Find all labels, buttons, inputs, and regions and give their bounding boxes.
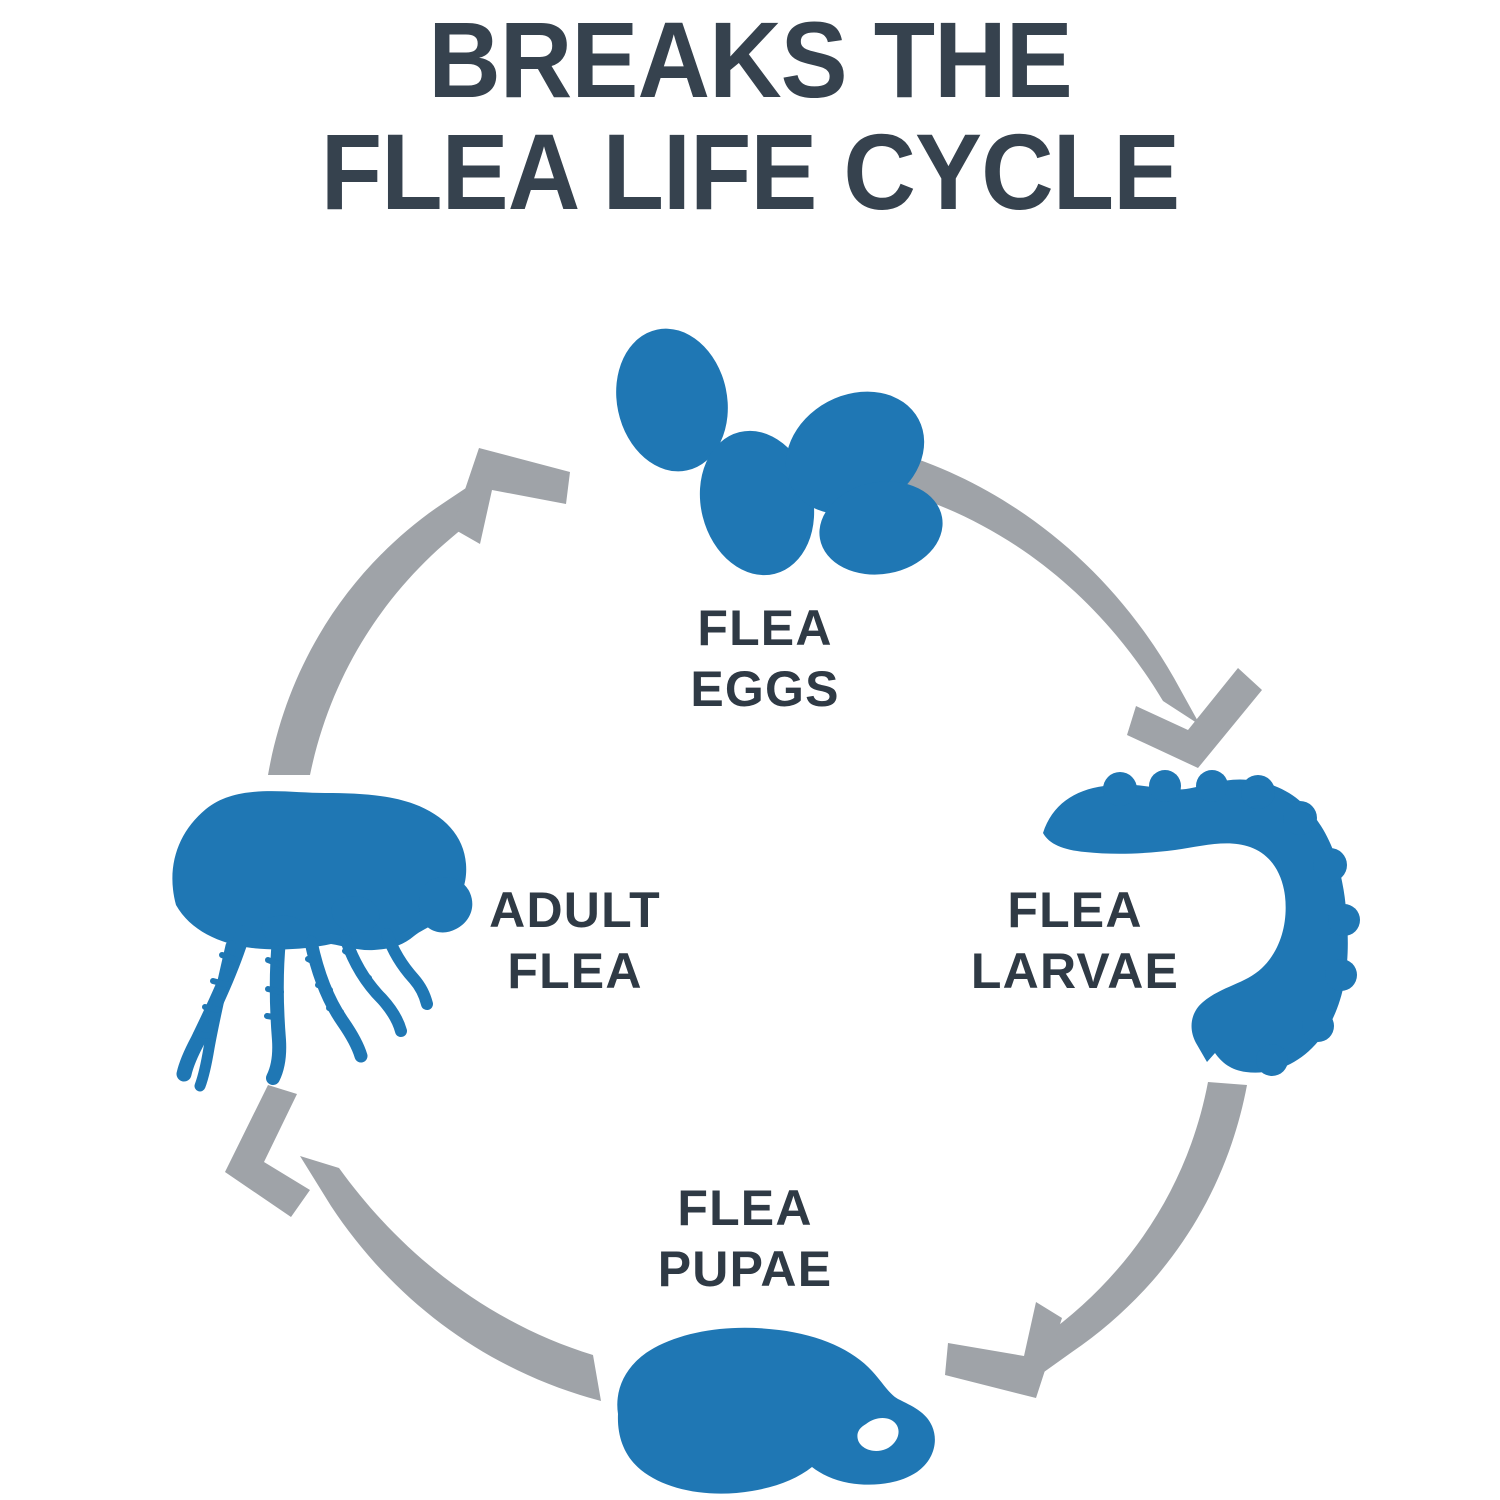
stage-label-eggs-line2: EGGS bbox=[600, 659, 930, 720]
flea-eggs-icon bbox=[603, 318, 950, 587]
arrowhead-chevron-icon bbox=[945, 1302, 1062, 1398]
flea-life-cycle-poster: BREAKS THE FLEA LIFE CYCLE bbox=[0, 0, 1500, 1500]
stage-label-pupae: FLEA PUPAE bbox=[580, 1178, 910, 1300]
stage-label-pupae-line2: PUPAE bbox=[580, 1239, 910, 1300]
arrow-pupae-to-adult bbox=[225, 1085, 601, 1401]
stage-label-larvae-line2: LARVAE bbox=[890, 941, 1260, 1002]
arrow-adult-to-eggs bbox=[268, 448, 570, 775]
stage-label-adult-line2: FLEA bbox=[410, 941, 740, 1002]
stage-label-eggs-line1: FLEA bbox=[600, 598, 930, 659]
stage-label-adult-line1: ADULT bbox=[410, 880, 740, 941]
stage-label-larvae-line1: FLEA bbox=[890, 880, 1260, 941]
stage-label-larvae: FLEA LARVAE bbox=[890, 880, 1260, 1002]
flea-pupa-icon bbox=[617, 1328, 935, 1494]
arrowhead-chevron-icon bbox=[225, 1085, 310, 1217]
stage-label-adult: ADULT FLEA bbox=[410, 880, 740, 1002]
stage-label-pupae-line1: FLEA bbox=[580, 1178, 910, 1239]
stage-label-eggs: FLEA EGGS bbox=[600, 598, 930, 720]
arrowhead-chevron-icon bbox=[452, 448, 570, 544]
arrow-larvae-to-pupae bbox=[945, 1082, 1247, 1398]
arrow-eggs-to-larvae bbox=[893, 451, 1262, 768]
